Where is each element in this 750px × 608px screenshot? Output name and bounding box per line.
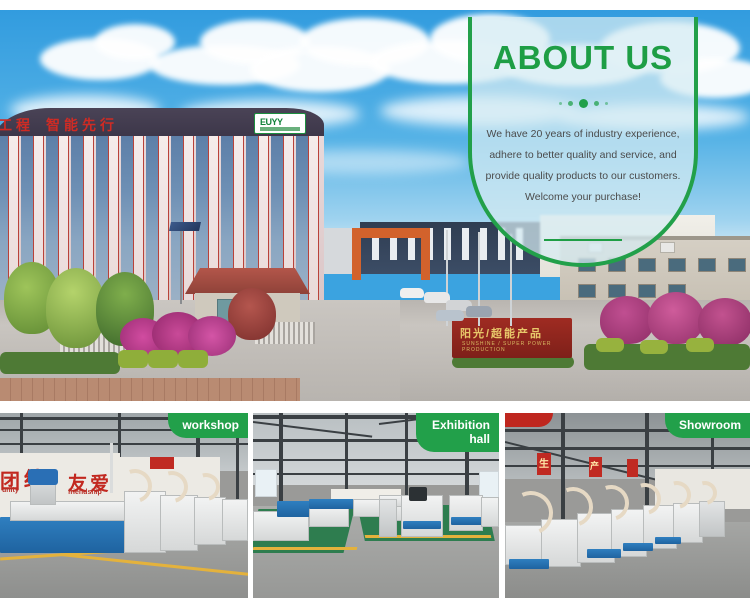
wall-text-en-2: friendship (68, 489, 102, 496)
about-us-panel: ABOUT US We have 20 years of industry ex… (468, 17, 698, 267)
entrance-sign: 阳光/超能产品 SUNSHINE / SUPER POWER PRODUCTIO… (452, 318, 572, 358)
about-bottom-rule (544, 239, 622, 241)
entrance-sign-sub: SUNSHINE / SUPER POWER PRODUCTION (462, 341, 572, 353)
machine (699, 501, 725, 537)
dot-lg-center (579, 99, 588, 108)
dot-s-left (568, 101, 573, 106)
about-line-1: We have 20 years of industry experience, (482, 124, 684, 145)
machine-blue-head (28, 469, 58, 485)
tile-tag-exhibition-hall: Exhibition hall (416, 413, 499, 452)
banner-char-2: 产 (590, 459, 599, 472)
entrance-sign-cn: 阳光/超能产品 (460, 325, 543, 341)
machine-base (451, 517, 483, 525)
monitor (409, 487, 427, 501)
logo-underbar (260, 127, 300, 131)
dot-xs-left (559, 102, 562, 105)
machine-base (403, 521, 441, 529)
tag-label: Showroom (679, 418, 741, 432)
about-us-title: ABOUT US (472, 41, 694, 74)
machine-cabinet (379, 499, 397, 537)
street-lamp-pole (180, 222, 182, 304)
machine-base (509, 559, 549, 569)
floor-line (253, 547, 357, 550)
machine (481, 497, 499, 527)
about-us-page: 工程 智能先行 EUYY (0, 0, 750, 608)
top-white-margin (0, 0, 750, 10)
gallery-tiles: 团 结 友 爱 unity friendship worksho (0, 413, 750, 598)
parked-car (436, 310, 464, 321)
gallery-tile-exhibition-hall[interactable]: Exhibition hall (253, 413, 499, 598)
building-sign-cn-middle: 智能先行 (46, 115, 118, 135)
machine (449, 495, 483, 531)
about-line-4: Welcome your purchase! (482, 187, 684, 208)
hedge (0, 352, 120, 374)
dot-xs-right (605, 102, 608, 105)
machine-cabinet (160, 495, 198, 551)
hedge (686, 338, 714, 352)
machine-table (309, 499, 355, 509)
company-logo-text: EUYY (260, 117, 283, 127)
wall-text-en-1: unity (2, 487, 19, 494)
machine-base (587, 549, 621, 558)
machine-body (401, 495, 443, 537)
orange-gantry-gate (352, 228, 430, 280)
red-banner (150, 457, 174, 469)
tile-tag-showroom: Showroom (665, 413, 750, 438)
hedge (596, 338, 624, 352)
banner-char-1: 生 (539, 455, 549, 470)
solar-panel (169, 222, 201, 231)
brick-sidewalk (0, 378, 300, 401)
dot-separator (472, 98, 694, 108)
machine-cabinet (222, 499, 248, 541)
parked-car (400, 288, 424, 298)
hedge (148, 350, 178, 368)
about-line-3: provide quality products to our customer… (482, 166, 684, 187)
hedge (640, 340, 668, 354)
red-overhead-banner (505, 413, 553, 427)
vertical-pipe (110, 443, 113, 493)
tag-label: workshop (182, 418, 239, 432)
tile-tag-workshop: workshop (168, 413, 248, 438)
tree (600, 296, 654, 344)
tag-label-line-1: Exhibition (432, 418, 490, 432)
company-logo-sign: EUYY (254, 113, 306, 134)
tree (648, 292, 704, 344)
cnc-machine-table (0, 517, 136, 553)
window (255, 469, 277, 497)
gallery-tile-showroom[interactable]: 生 产 Showroom (505, 413, 750, 598)
hero-factory-photo: 工程 智能先行 EUYY (0, 0, 750, 401)
red-banner (627, 459, 638, 477)
tag-label-line-2: hall (432, 432, 490, 446)
building-sign-cn-left: 工程 (0, 115, 34, 135)
gallery-tile-workshop[interactable]: 团 结 友 爱 unity friendship worksho (0, 413, 248, 598)
about-us-description: We have 20 years of industry experience,… (472, 124, 694, 208)
machine-base (623, 543, 653, 551)
dot-s-right (594, 101, 599, 106)
about-line-2: adhere to better quality and service, an… (482, 145, 684, 166)
parked-car (466, 306, 492, 317)
cnc-machine-gantry (10, 501, 130, 521)
hedge (178, 350, 208, 368)
machine-base (655, 537, 681, 544)
hedge (118, 350, 148, 368)
